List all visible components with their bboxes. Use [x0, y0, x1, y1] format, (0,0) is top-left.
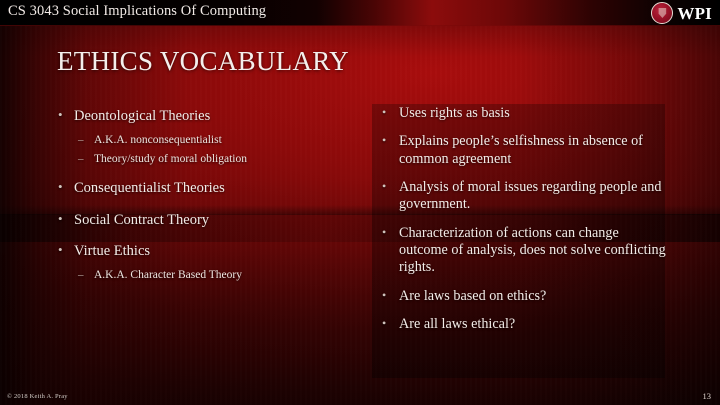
dash-icon: –	[78, 268, 94, 282]
bullet-icon: •	[58, 107, 74, 124]
list-item-label: Are all laws ethical?	[399, 316, 515, 333]
sub-list-item-label: A.K.A. nonconsequentialist	[94, 133, 222, 148]
right-content-column: • Uses rights as basis • Explains people…	[382, 105, 668, 344]
list-item: • Analysis of moral issues regarding peo…	[382, 179, 668, 214]
sub-list-item-label: Theory/study of moral obligation	[94, 152, 247, 167]
wpi-logo-text: WPI	[677, 5, 712, 22]
list-item-label: Social Contract Theory	[74, 211, 209, 230]
sub-list-item: – A.K.A. nonconsequentialist	[78, 133, 358, 148]
list-item: • Virtue Ethics	[58, 242, 358, 261]
course-title: CS 3043 Social Implications Of Computing	[8, 3, 266, 20]
list-item-label: Deontological Theories	[74, 107, 210, 126]
copyright-notice: © 2018 Keith A. Pray	[7, 393, 68, 400]
list-item-label: Uses rights as basis	[399, 105, 510, 122]
list-item-label: Are laws based on ethics?	[399, 288, 546, 305]
bullet-icon: •	[382, 288, 399, 303]
bullet-icon: •	[382, 179, 399, 194]
list-item: • Deontological Theories	[58, 107, 358, 126]
dash-icon: –	[78, 152, 94, 166]
list-item: • Characterization of actions can change…	[382, 225, 668, 277]
list-item-label: Consequentialist Theories	[74, 179, 225, 198]
bullet-icon: •	[382, 225, 399, 240]
list-item: • Uses rights as basis	[382, 105, 668, 122]
list-item-label: Virtue Ethics	[74, 242, 150, 261]
list-item-label: Explains people’s selfishness in absence…	[399, 133, 668, 168]
wpi-logo: WPI	[651, 2, 712, 24]
wpi-seal-icon	[651, 2, 673, 24]
bullet-icon: •	[382, 105, 399, 120]
bullet-icon: •	[382, 316, 399, 331]
list-item-label: Analysis of moral issues regarding peopl…	[399, 179, 668, 214]
sub-list-item-label: A.K.A. Character Based Theory	[94, 268, 242, 283]
page-number: 13	[703, 391, 712, 401]
slide-title: ETHICS VOCABULARY	[57, 46, 349, 77]
sub-list-item: – Theory/study of moral obligation	[78, 152, 358, 167]
presentation-slide: CS 3043 Social Implications Of Computing…	[0, 0, 720, 405]
list-item: • Explains people’s selfishness in absen…	[382, 133, 668, 168]
list-item: • Are all laws ethical?	[382, 316, 668, 333]
list-item: • Consequentialist Theories	[58, 179, 358, 198]
bullet-icon: •	[382, 133, 399, 148]
sub-list-item: – A.K.A. Character Based Theory	[78, 268, 358, 283]
list-item: • Social Contract Theory	[58, 211, 358, 230]
slide-header-bar: CS 3043 Social Implications Of Computing…	[0, 0, 720, 26]
list-item: • Are laws based on ethics?	[382, 288, 668, 305]
list-item-label: Characterization of actions can change o…	[399, 225, 668, 277]
bullet-icon: •	[58, 211, 74, 228]
bullet-icon: •	[58, 179, 74, 196]
dash-icon: –	[78, 133, 94, 147]
bullet-icon: •	[58, 242, 74, 259]
left-content-column: • Deontological Theories – A.K.A. noncon…	[58, 107, 358, 287]
